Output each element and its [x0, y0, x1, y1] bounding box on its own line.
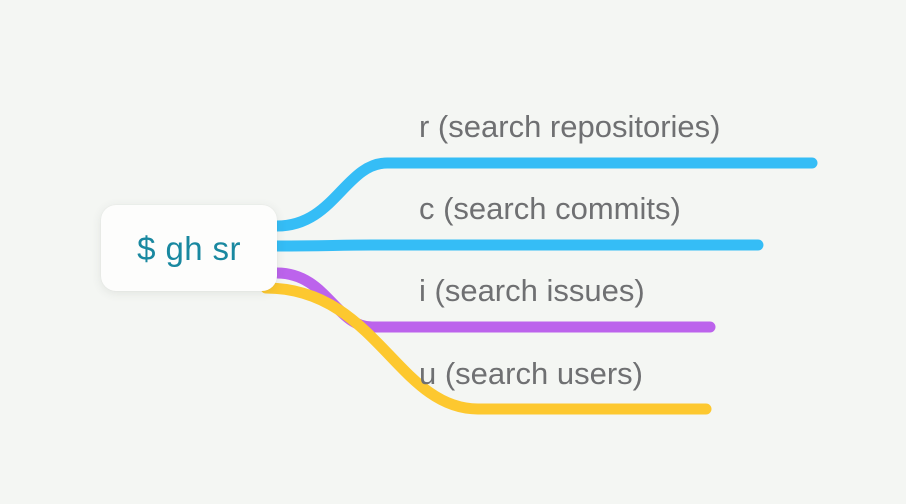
- branch-label-issues[interactable]: i (search issues): [419, 275, 645, 306]
- mindmap-canvas: $ gh sr r (search repositories) c (searc…: [0, 0, 906, 504]
- root-node-label: $ gh sr: [137, 232, 241, 265]
- branch-label-repositories[interactable]: r (search repositories): [419, 111, 720, 142]
- root-node[interactable]: $ gh sr: [101, 205, 277, 291]
- branch-label-users[interactable]: u (search users): [419, 358, 643, 389]
- branch-label-commits[interactable]: c (search commits): [419, 193, 681, 224]
- branch-connector-commits: [277, 245, 758, 246]
